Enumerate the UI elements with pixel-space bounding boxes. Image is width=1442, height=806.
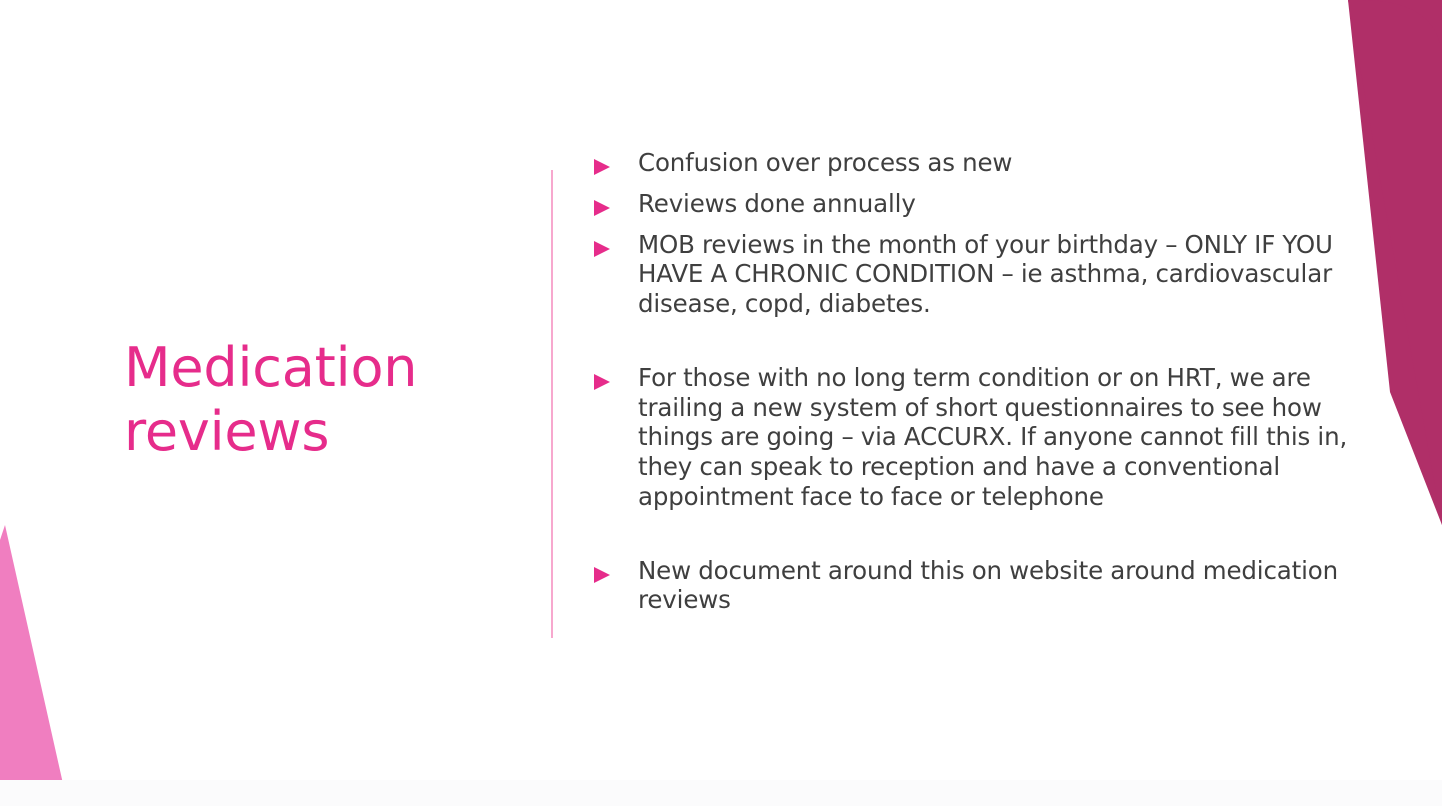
triangle-right-icon	[592, 230, 638, 259]
list-item-label: MOB reviews in the month of your birthda…	[638, 230, 1352, 319]
triangle-right-icon	[592, 556, 638, 585]
list-item: Reviews done annually	[592, 189, 1352, 219]
page-title: Medication reviews	[124, 336, 519, 463]
title-block: Medication reviews	[124, 336, 519, 463]
slide-canvas: Medication reviews Confusion over proces…	[0, 0, 1442, 806]
bottom-band	[0, 780, 1442, 806]
bullet-list: Confusion over process as new Reviews do…	[592, 148, 1352, 626]
bottom-left-wedge-shape	[0, 525, 68, 806]
list-item-label: Reviews done annually	[638, 189, 1352, 219]
triangle-right-icon	[592, 189, 638, 218]
list-item-label: For those with no long term condition or…	[638, 363, 1352, 512]
top-right-wedge-rounded-corner	[1360, 0, 1442, 62]
list-item: For those with no long term condition or…	[592, 363, 1352, 512]
top-right-wedge-shape	[1348, 0, 1442, 525]
list-item: New document around this on website arou…	[592, 556, 1352, 616]
list-item: MOB reviews in the month of your birthda…	[592, 230, 1352, 319]
list-item-label: New document around this on website arou…	[638, 556, 1352, 616]
triangle-right-icon	[592, 148, 638, 177]
list-item: Confusion over process as new	[592, 148, 1352, 178]
list-item-label: Confusion over process as new	[638, 148, 1352, 178]
top-right-wedge-shape-inner	[1348, 0, 1442, 525]
triangle-right-icon	[592, 363, 638, 392]
vertical-divider	[551, 170, 553, 638]
